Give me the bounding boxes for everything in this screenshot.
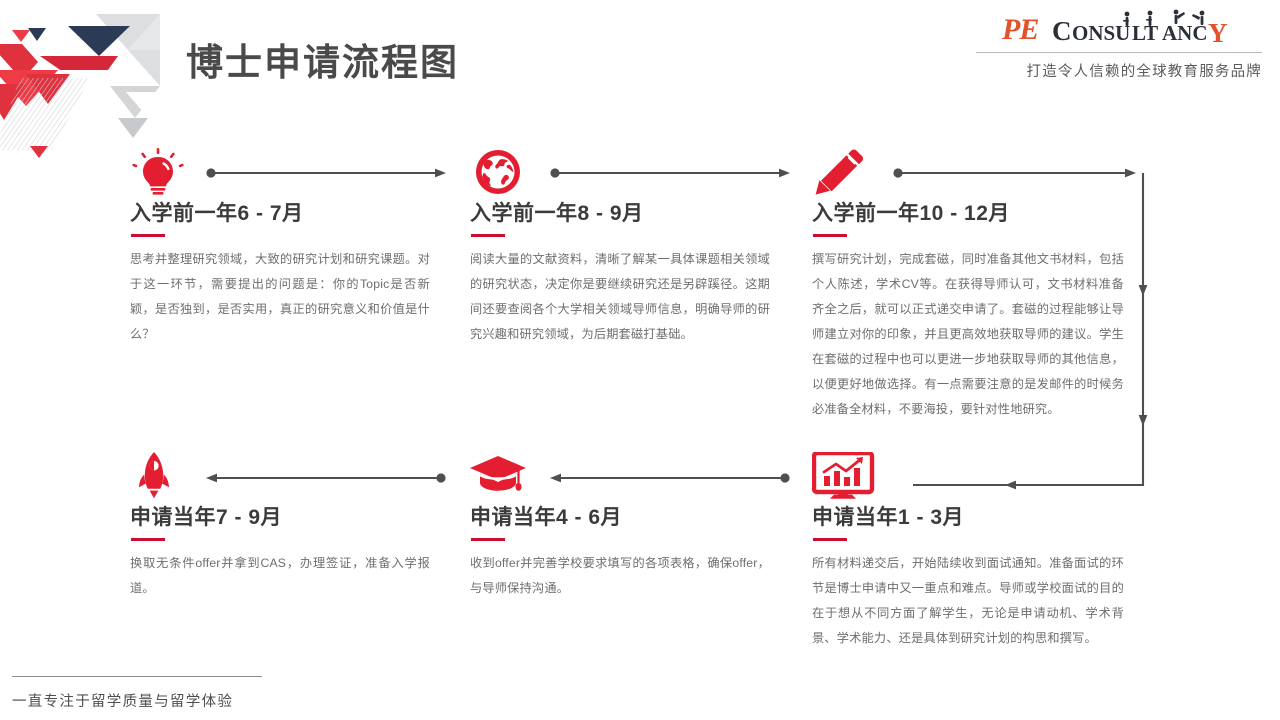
step-body: 收到offer并完善学校要求填写的各项表格，确保offer，与导师保持沟通。 <box>470 551 770 601</box>
svg-text:ANC: ANC <box>1162 21 1208 45</box>
rocket-icon <box>130 452 186 500</box>
step-card-5: 申请当年4 - 6月 收到offer并完善学校要求填写的各项表格，确保offer… <box>470 452 770 601</box>
globe-icon <box>470 148 526 196</box>
svg-text:ONSU: ONSU <box>1072 21 1130 45</box>
step-card-3: 入学前一年10 - 12月 撰写研究计划，完成套磁，同时准备其他文书材料，包括个… <box>812 148 1124 422</box>
step-card-4: 申请当年7 - 9月 换取无条件offer并拿到CAS，办理签证，准备入学报道。 <box>130 452 430 601</box>
page-title: 博士申请流程图 <box>186 44 459 81</box>
svg-text:C: C <box>1052 16 1072 46</box>
step-accent-rule <box>131 538 165 541</box>
step-accent-rule <box>471 234 505 237</box>
step-card-1: 入学前一年6 - 7月 思考并整理研究领域，大致的研究计划和研究课题。对于这一环… <box>130 148 430 347</box>
lightbulb-icon <box>130 148 186 196</box>
footer-text: 一直专注于留学质量与留学体验 <box>12 690 233 711</box>
logo-divider <box>976 52 1262 53</box>
step-accent-rule <box>813 234 847 237</box>
svg-text:PE: PE <box>1001 13 1038 46</box>
step-heading: 申请当年1 - 3月 <box>812 506 1124 529</box>
step-accent-rule <box>471 538 505 541</box>
brand-logo: PE C ONSU LT ANC Y 打造令人信赖的全球教育服务品牌 <box>994 8 1262 82</box>
step-accent-rule <box>813 538 847 541</box>
pencil-icon <box>812 148 868 196</box>
step-body: 所有材料递交后，开始陆续收到面试通知。准备面试的环节是博士申请中又一重点和难点。… <box>812 551 1124 651</box>
step-heading: 申请当年7 - 9月 <box>130 506 430 529</box>
step-body: 撰写研究计划，完成套磁，同时准备其他文书材料，包括个人陈述，学术CV等。在获得导… <box>812 247 1124 422</box>
decorative-geometry <box>0 0 200 160</box>
step-body: 换取无条件offer并拿到CAS，办理签证，准备入学报道。 <box>130 551 430 601</box>
footer-divider <box>12 676 262 677</box>
logo-mark: PE C ONSU LT ANC Y <box>994 8 1262 48</box>
step-heading: 申请当年4 - 6月 <box>470 506 770 529</box>
step-card-2: 入学前一年8 - 9月 阅读大量的文献资料，清晰了解某一具体课题相关领域的研究状… <box>470 148 770 347</box>
brand-tagline: 打造令人信赖的全球教育服务品牌 <box>1027 60 1263 81</box>
step-heading: 入学前一年6 - 7月 <box>130 202 430 225</box>
slide-root: 博士申请流程图 PE C ONSU LT ANC Y 打造令人信赖的全球教育服务… <box>0 0 1280 720</box>
step-accent-rule <box>131 234 165 237</box>
step-heading: 入学前一年8 - 9月 <box>470 202 770 225</box>
step-heading: 入学前一年10 - 12月 <box>812 202 1124 225</box>
svg-text:LT: LT <box>1132 21 1158 45</box>
step-body: 思考并整理研究领域，大致的研究计划和研究课题。对于这一环节，需要提出的问题是：你… <box>130 247 430 347</box>
chart-monitor-icon <box>812 452 868 500</box>
step-card-6: 申请当年1 - 3月 所有材料递交后，开始陆续收到面试通知。准备面试的环节是博士… <box>812 452 1124 651</box>
svg-text:Y: Y <box>1208 18 1228 48</box>
graduation-cap-icon <box>470 452 526 500</box>
step-body: 阅读大量的文献资料，清晰了解某一具体课题相关领域的研究状态，决定你是要继续研究还… <box>470 247 770 347</box>
